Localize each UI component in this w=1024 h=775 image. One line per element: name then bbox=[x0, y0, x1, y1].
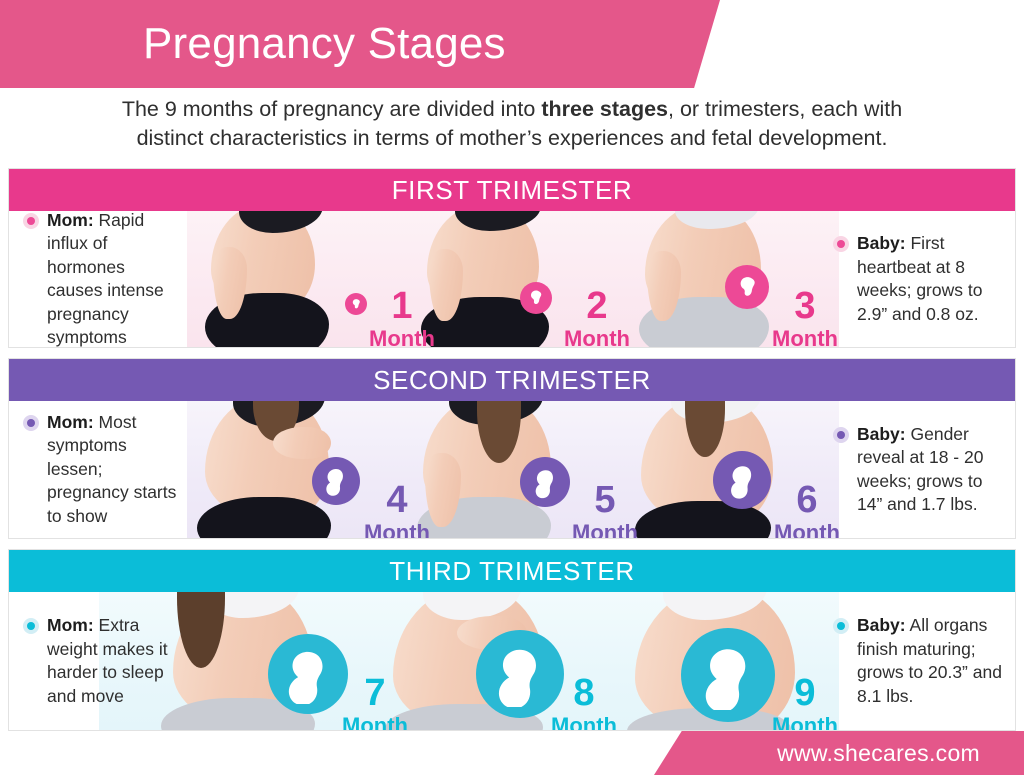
month-label-7: 7 Month bbox=[327, 674, 423, 731]
mom-lead-label: Mom: bbox=[47, 615, 94, 635]
baby-lead-label: Baby: bbox=[857, 233, 906, 253]
fetus-silhouette bbox=[524, 286, 548, 310]
month-number: 2 bbox=[549, 287, 645, 325]
fetus-silhouette bbox=[693, 640, 763, 710]
month-number: 1 bbox=[354, 287, 450, 325]
baby-column: Baby: First heartbeat at 8 weeks; grows … bbox=[821, 211, 1015, 347]
baby-lead-label: Baby: bbox=[857, 424, 906, 444]
section-third-trimester: THIRD TRIMESTER bbox=[8, 549, 1016, 731]
bullet-icon bbox=[23, 213, 39, 229]
intro-paragraph: The 9 months of pregnancy are divided in… bbox=[0, 95, 1024, 153]
bullet-icon bbox=[833, 618, 849, 634]
fetus-icon-month-2 bbox=[520, 282, 552, 314]
website-url[interactable]: www.shecares.com bbox=[777, 740, 980, 767]
month-label-5: 5 Month bbox=[557, 481, 653, 539]
month-number: 7 bbox=[327, 674, 423, 712]
month-word: Month bbox=[354, 328, 450, 348]
page-footer: www.shecares.com bbox=[0, 731, 1024, 775]
intro-line-1: The 9 months of pregnancy are divided in… bbox=[18, 95, 1006, 124]
month-label-1: 1 Month bbox=[354, 287, 450, 348]
month-label-2: 2 Month bbox=[549, 287, 645, 348]
month-word: Month bbox=[327, 715, 423, 731]
month-number: 8 bbox=[536, 674, 632, 712]
band-first-trimester: FIRST TRIMESTER bbox=[9, 169, 1015, 211]
month-number: 5 bbox=[557, 481, 653, 519]
band-third-trimester: THIRD TRIMESTER bbox=[9, 550, 1015, 592]
page-title: Pregnancy Stages bbox=[143, 16, 506, 72]
baby-text-block: Baby: First heartbeat at 8 weeks; grows … bbox=[833, 232, 1005, 326]
month-word: Month bbox=[349, 522, 445, 539]
section-body: 1 Month 2 Month 3 Month Mom: Rapid influ… bbox=[9, 211, 1015, 347]
intro-text-before: The 9 months of pregnancy are divided in… bbox=[122, 97, 542, 121]
baby-column: Baby: Gender reveal at 18 - 20 weeks; gr… bbox=[821, 401, 1015, 538]
baby-text-block: Baby: Gender reveal at 18 - 20 weeks; gr… bbox=[833, 423, 1005, 517]
band-label: SECOND TRIMESTER bbox=[373, 365, 651, 396]
baby-lead-label: Baby: bbox=[857, 615, 906, 635]
band-label: THIRD TRIMESTER bbox=[389, 556, 634, 587]
intro-text-after: , or trimesters, each with bbox=[668, 97, 902, 121]
bullet-icon bbox=[23, 415, 39, 431]
section-body: 7 Month 8 Month 9 Month Mom: Extra weigh… bbox=[9, 592, 1015, 730]
band-label: FIRST TRIMESTER bbox=[392, 175, 633, 206]
mom-column: Mom: Rapid influx of hormones causes int… bbox=[9, 211, 187, 347]
arm-shape bbox=[273, 427, 331, 459]
section-second-trimester: SECOND TRIMESTER bbox=[8, 358, 1016, 539]
intro-line-2: distinct characteristics in terms of mot… bbox=[18, 124, 1006, 153]
section-body: 4 Month 5 Month 6 Month Mom: Most sympto… bbox=[9, 401, 1015, 538]
mom-column: Mom: Extra weight makes it harder to sle… bbox=[9, 592, 187, 730]
mom-description: Rapid influx of hormones causes intense … bbox=[47, 210, 164, 348]
section-first-trimester: FIRST TRIMESTER bbox=[8, 168, 1016, 348]
mom-lead-label: Mom: bbox=[47, 412, 94, 432]
month-word: Month bbox=[549, 328, 645, 348]
mom-text-block: Mom: Most symptoms lessen; pregnancy sta… bbox=[23, 411, 179, 529]
baby-column: Baby: All organs finish maturing; grows … bbox=[821, 592, 1015, 730]
month-number: 4 bbox=[349, 481, 445, 519]
mom-text-block: Mom: Extra weight makes it harder to sle… bbox=[23, 614, 179, 708]
page-header: Pregnancy Stages bbox=[0, 0, 1024, 88]
bullet-icon bbox=[833, 427, 849, 443]
month-word: Month bbox=[536, 715, 632, 731]
month-label-4: 4 Month bbox=[349, 481, 445, 539]
mom-text-block: Mom: Rapid influx of hormones causes int… bbox=[23, 209, 179, 349]
bullet-icon bbox=[833, 236, 849, 252]
bullet-icon bbox=[23, 618, 39, 634]
intro-text-bold: three stages bbox=[541, 97, 668, 121]
mom-lead-label: Mom: bbox=[47, 210, 94, 230]
band-second-trimester: SECOND TRIMESTER bbox=[9, 359, 1015, 401]
mom-column: Mom: Most symptoms lessen; pregnancy sta… bbox=[9, 401, 187, 538]
fetus-silhouette bbox=[721, 459, 764, 502]
month-word: Month bbox=[557, 522, 653, 539]
baby-text-block: Baby: All organs finish maturing; grows … bbox=[833, 614, 1005, 708]
month-label-8: 8 Month bbox=[536, 674, 632, 731]
